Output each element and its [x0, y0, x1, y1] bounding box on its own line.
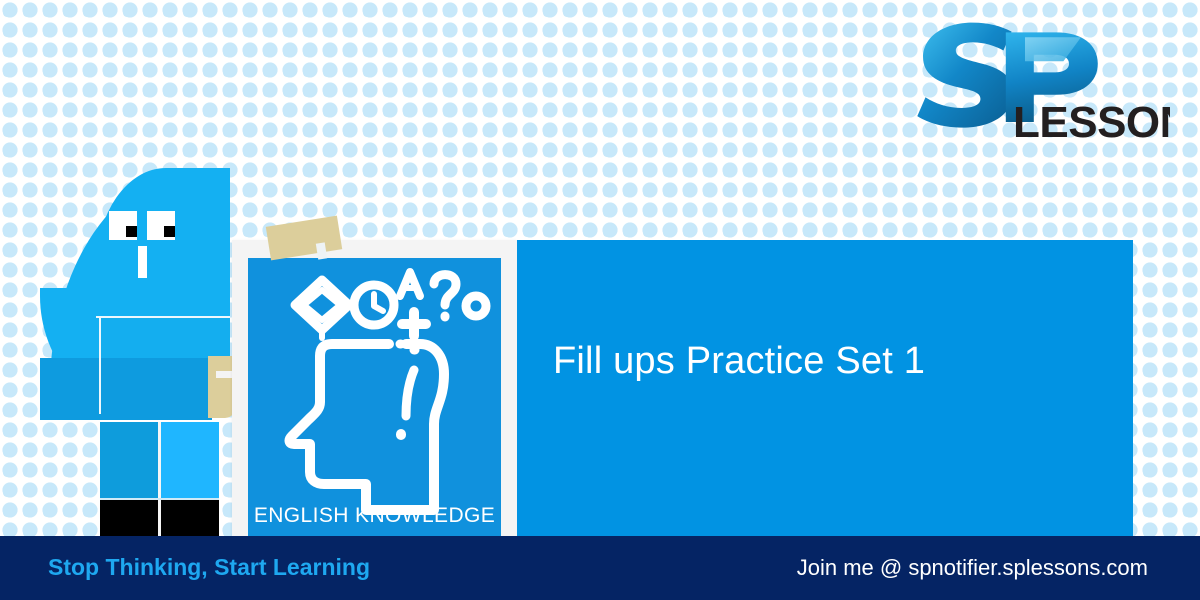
- mascot-leg-right: [161, 422, 219, 498]
- mascot-torso-seam: [99, 318, 101, 414]
- question-mark-icon: [434, 275, 456, 317]
- diamond-book-icon: [295, 280, 349, 338]
- banner-canvas: LESSONS: [0, 0, 1200, 600]
- mascot-character: [40, 168, 240, 540]
- mascot-shoe-left: [100, 500, 158, 540]
- footer-join-link[interactable]: Join me @ spnotifier.splessons.com: [797, 555, 1148, 581]
- mascot-leg-left: [100, 422, 158, 498]
- exclamation-icon: [401, 370, 414, 435]
- plus-icon: [402, 312, 426, 336]
- clock-icon: [354, 285, 394, 325]
- logo-wordmark: LESSONS: [1013, 98, 1170, 147]
- page-title: Fill ups Practice Set 1: [553, 340, 925, 383]
- letter-a-icon: [400, 272, 420, 296]
- footer-tagline: Stop Thinking, Start Learning: [48, 554, 370, 581]
- subject-photo-label: ENGLISH KNOWLEDGE: [248, 504, 501, 528]
- subject-photo-card[interactable]: ENGLISH KNOWLEDGE: [232, 240, 517, 540]
- footer-bar: Stop Thinking, Start Learning Join me @ …: [0, 536, 1200, 600]
- mascot-pupil-left: [126, 226, 137, 237]
- mascot-arm: [40, 358, 212, 420]
- subject-photo-image: ENGLISH KNOWLEDGE: [248, 258, 501, 540]
- splessons-logo[interactable]: LESSONS: [905, 22, 1170, 152]
- english-knowledge-illustration: [248, 258, 501, 540]
- mascot-face: [96, 168, 230, 318]
- head-profile-icon: [290, 344, 444, 510]
- mascot-nose: [138, 246, 147, 278]
- circle-dot-icon: [466, 296, 486, 316]
- logo-svg: LESSONS: [905, 22, 1170, 152]
- mascot-pupil-right: [164, 226, 175, 237]
- title-panel: Fill ups Practice Set 1: [517, 240, 1133, 536]
- logo-s-shape: [917, 23, 1013, 128]
- mascot-shoe-right: [161, 500, 219, 540]
